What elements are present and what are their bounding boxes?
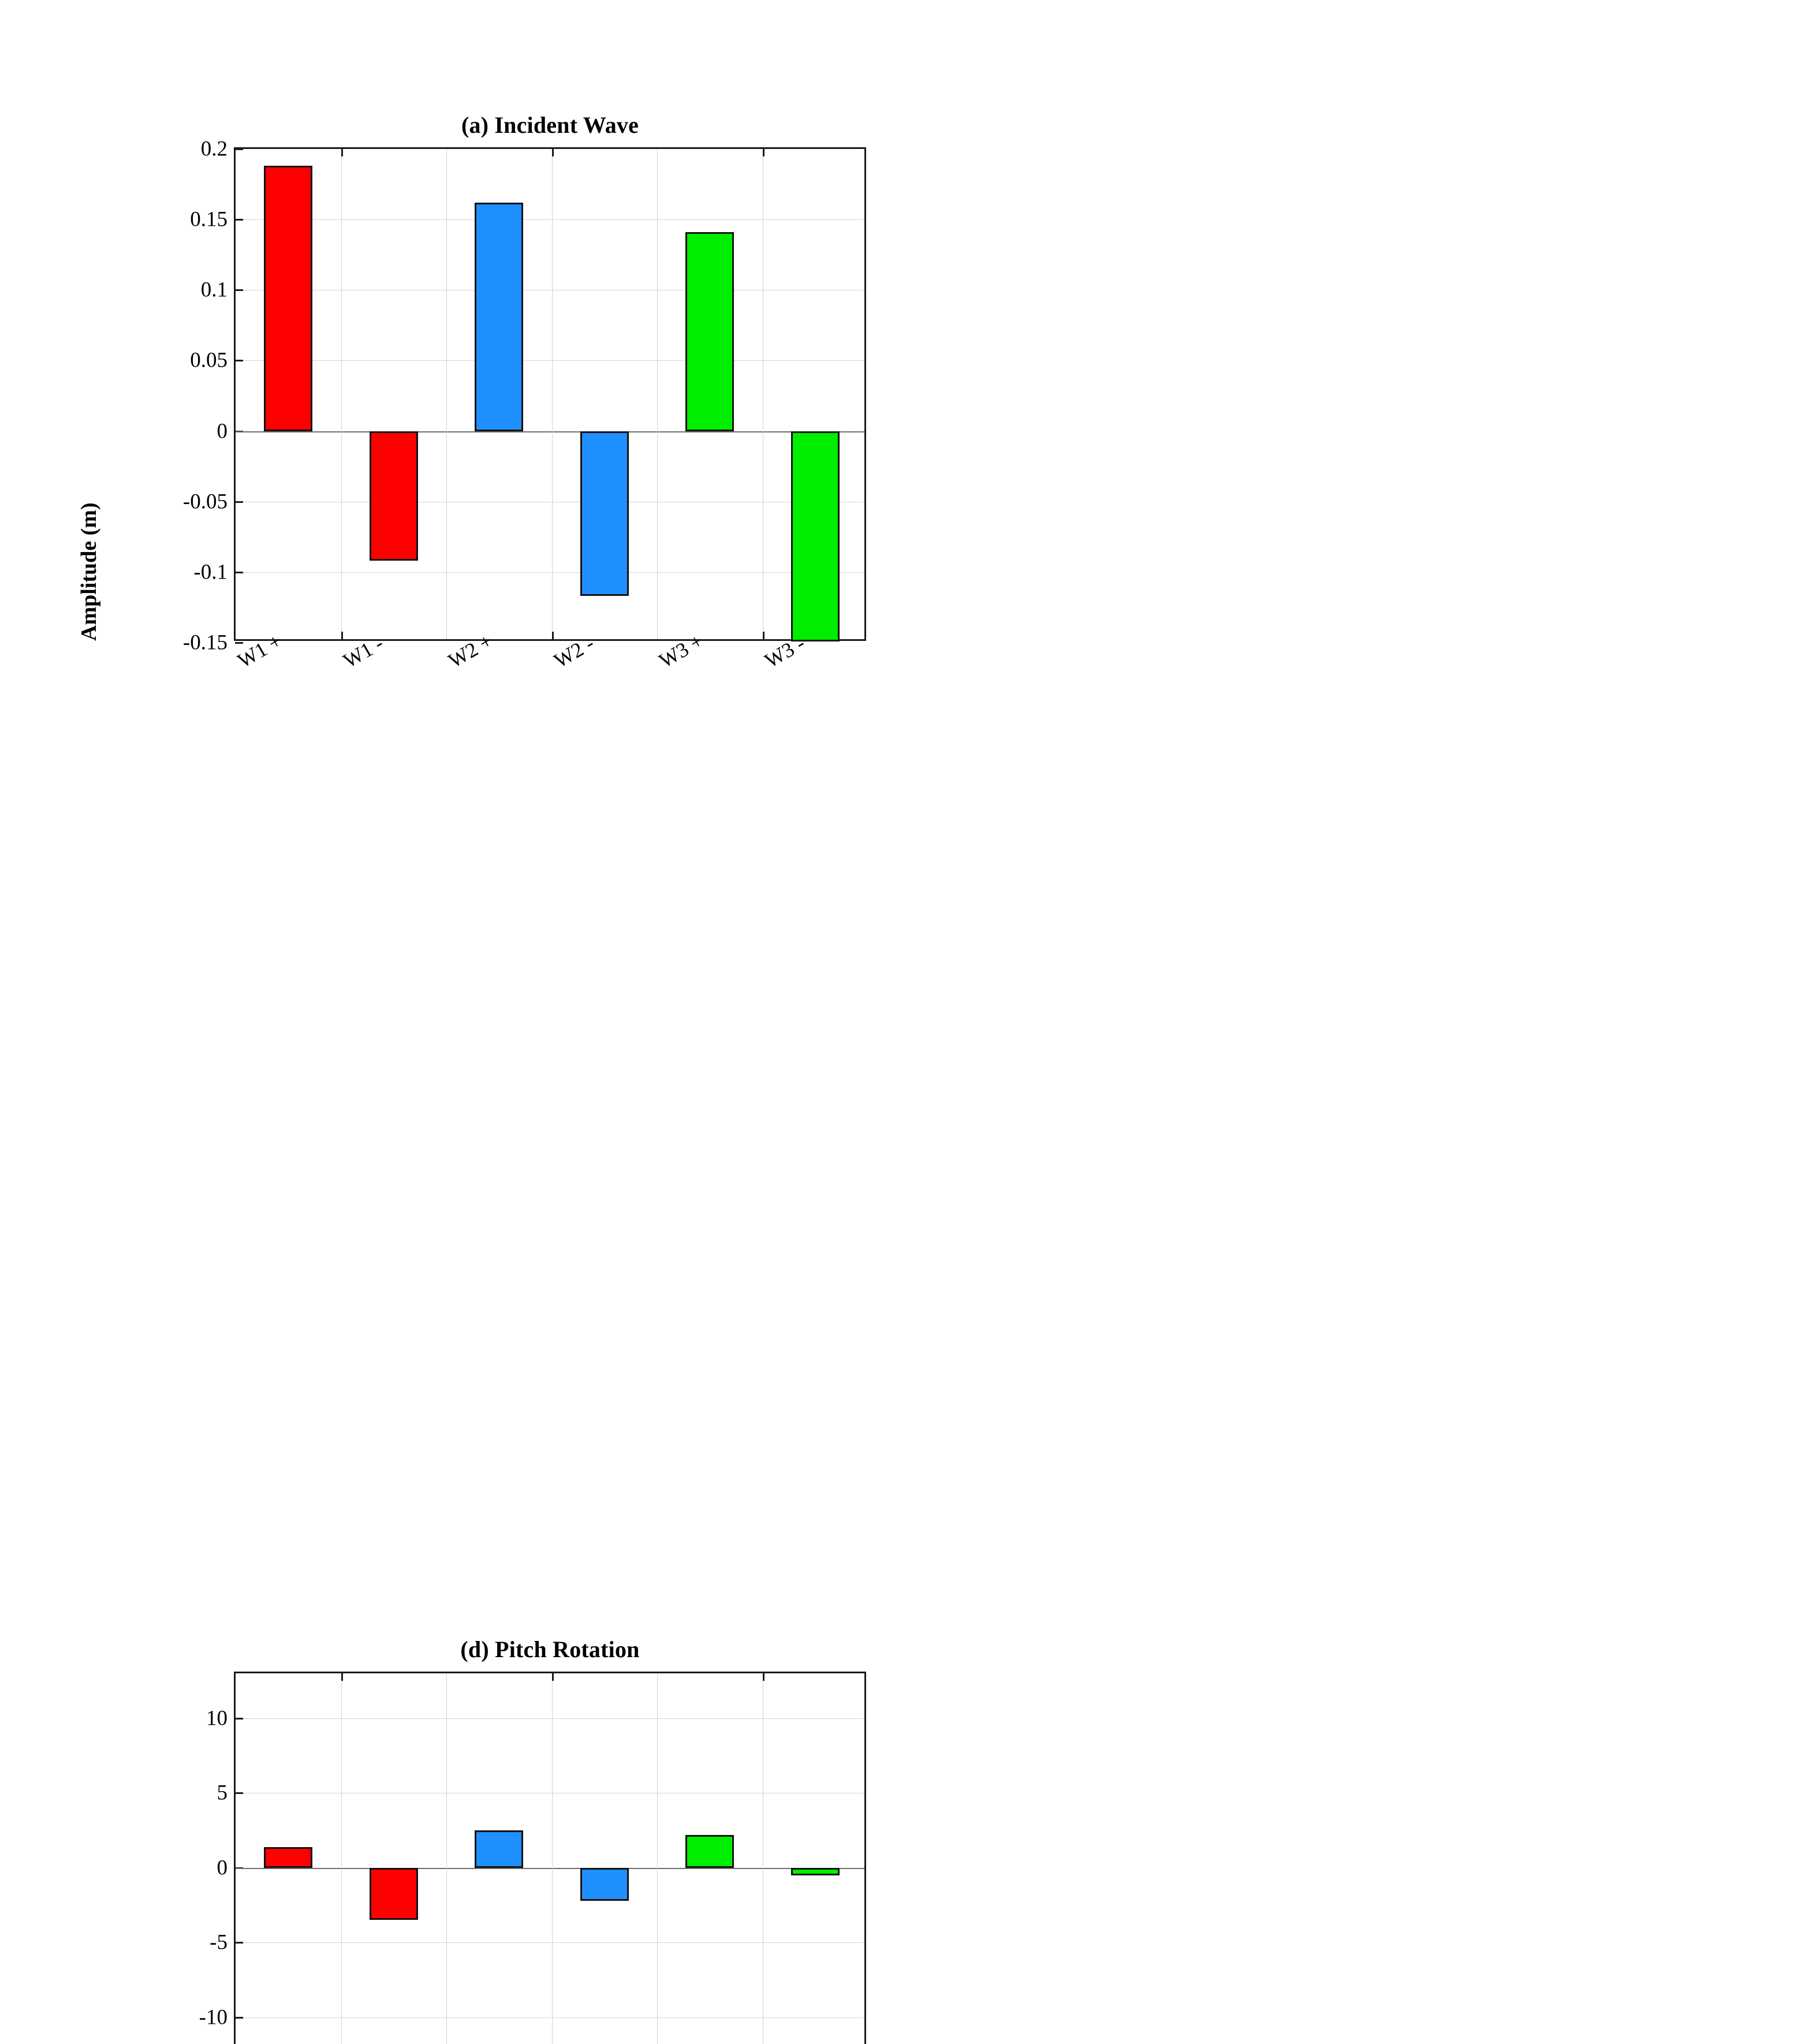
panel-b: (b) Surge Translation Amplitude (m) 0.15… — [602, 0, 1203, 511]
y-axis-tick-label: 0.05 — [190, 348, 228, 373]
gridline-horizontal — [236, 1942, 864, 1943]
panel-e: (e) OWC Chamber Air Pressure Pressure (P… — [602, 511, 1203, 1022]
y-axis-tick — [235, 1792, 243, 1794]
x-axis-tick-top — [341, 1673, 343, 1681]
y-axis-tick-label: -5 — [210, 1930, 228, 1955]
y-axis-tick — [235, 148, 243, 150]
y-axis-tick-label: 0 — [217, 419, 228, 443]
gridline-vertical — [552, 1673, 553, 2044]
y-axis-tick-label: -0.05 — [183, 489, 228, 514]
y-axis-tick-label: 0.2 — [201, 137, 228, 162]
gridline-vertical — [446, 1673, 447, 2044]
figure-grid: (a) Incident Wave Amplitude (m) 0.20.150… — [0, 0, 1805, 1022]
gridline-vertical — [657, 1673, 658, 2044]
y-axis-tick — [235, 2017, 243, 2019]
bar[interactable] — [475, 1830, 523, 1868]
gridline-vertical — [341, 1673, 342, 2044]
y-axis-tick-label: 0.1 — [201, 278, 228, 303]
bar[interactable] — [791, 1868, 840, 1875]
gridline-vertical — [763, 1673, 763, 2044]
y-axis-tick-label: -10 — [199, 2005, 228, 2030]
bar[interactable] — [475, 203, 523, 431]
bar[interactable] — [264, 166, 312, 431]
x-axis-tick-top — [552, 148, 554, 156]
x-axis-tick-top — [552, 1673, 554, 1681]
gridline-horizontal — [236, 1718, 864, 1719]
panel-d: (d) Pitch Rotation Angle (°) 1050-5-10-1… — [0, 511, 602, 1022]
y-axis-tick — [235, 219, 243, 221]
bar[interactable] — [685, 1835, 734, 1868]
y-axis-tick — [235, 1942, 243, 1944]
y-axis-tick — [235, 1718, 243, 1720]
y-axis-tick-label: 0 — [217, 1855, 228, 1880]
gridline-horizontal — [236, 1793, 864, 1793]
gridline-horizontal — [236, 2017, 864, 2018]
y-axis-tick — [235, 289, 243, 291]
panel-f: (f) Mooring Tension Tension (N) 12510075… — [1203, 511, 1805, 1022]
panel-a: (a) Incident Wave Amplitude (m) 0.20.150… — [0, 0, 602, 511]
y-axis-tick-label: 0.15 — [190, 207, 228, 232]
x-axis-tick-top — [763, 1673, 764, 1681]
y-axis-tick-label: 10 — [206, 1706, 228, 1730]
bar[interactable] — [370, 1868, 418, 1920]
bar[interactable] — [580, 1868, 629, 1901]
y-axis-tick — [235, 360, 243, 361]
zero-baseline — [236, 1868, 864, 1869]
y-axis-tick — [235, 501, 243, 503]
panel-d-title: (d) Pitch Rotation — [170, 1636, 930, 1663]
panel-d-plot-area: 1050-5-10-15-20W1 +W1 -W2 +W2 -W3 +W3 - — [234, 1672, 866, 2044]
panel-c: (c) Heave Translation Amplitude (m) 0.10… — [1203, 0, 1805, 511]
x-axis-tick-top — [341, 148, 343, 156]
bar[interactable] — [264, 1847, 312, 1868]
y-axis-tick-label: 5 — [217, 1781, 228, 1806]
